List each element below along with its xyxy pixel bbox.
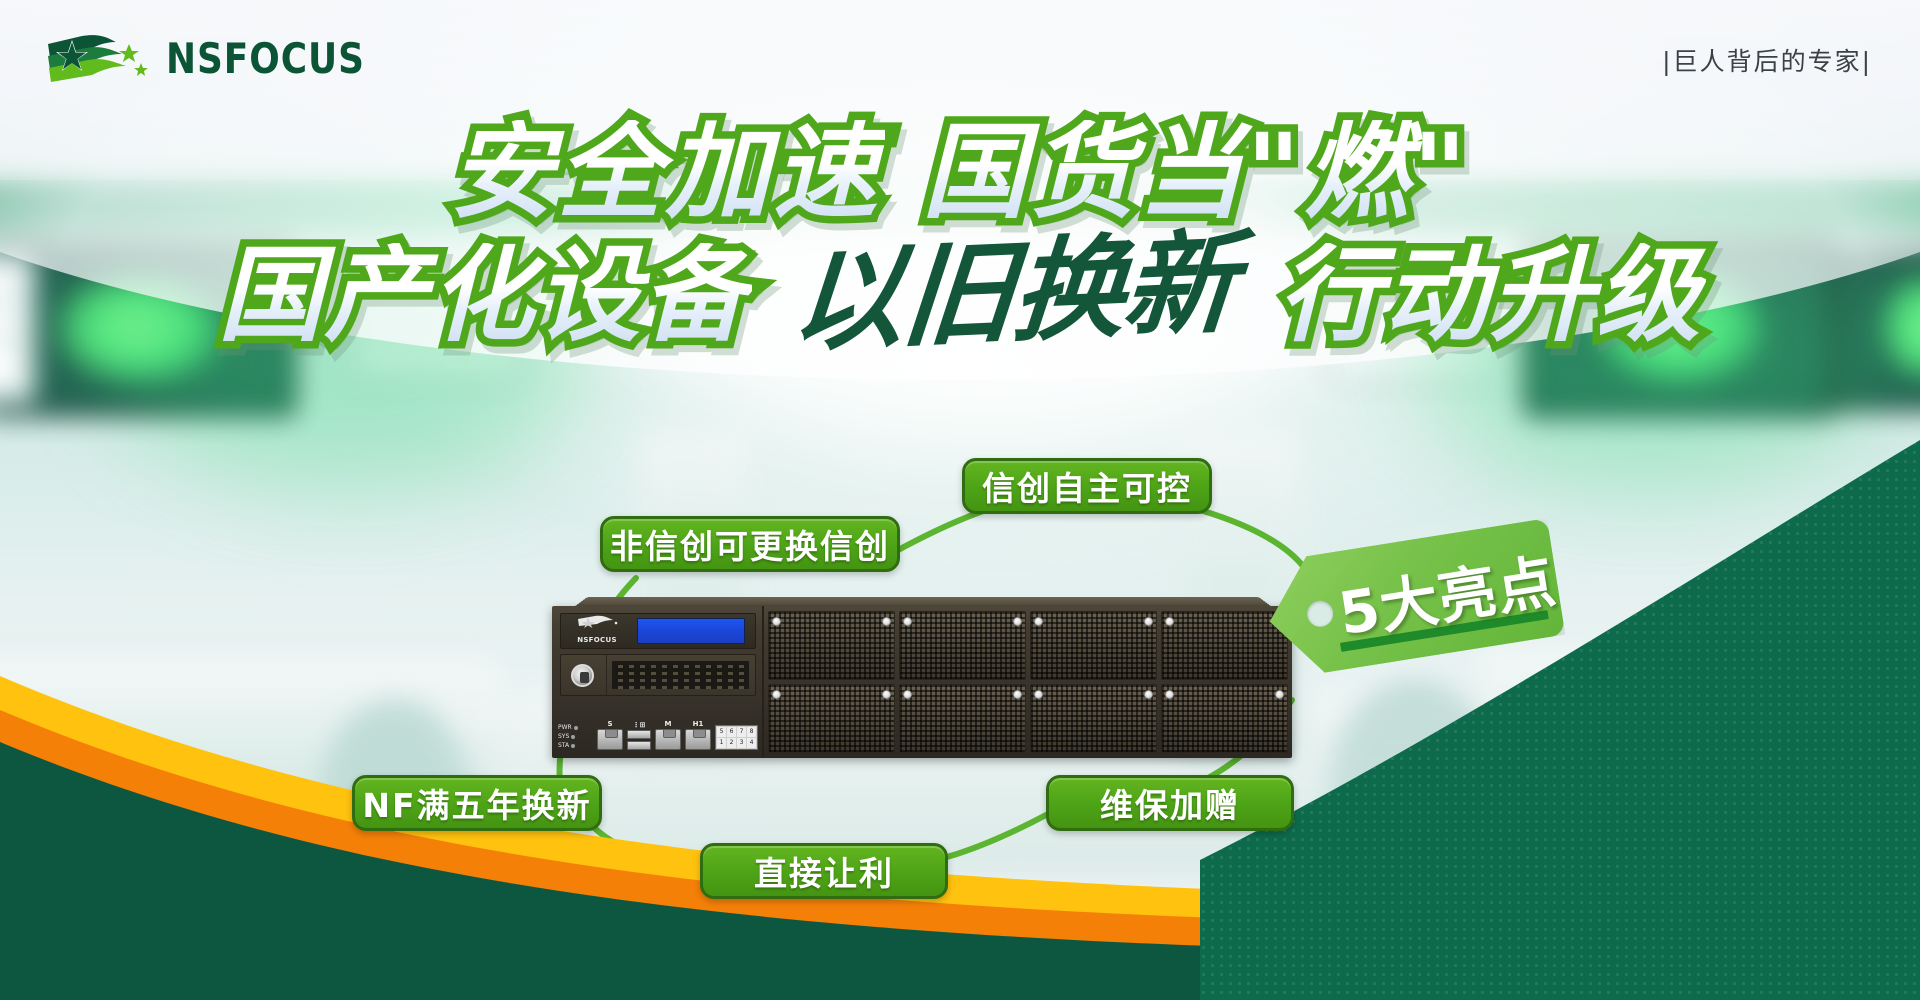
appliance-port-m[interactable]: M <box>655 720 681 750</box>
appliance-usb-ports[interactable]: ⋮⊞ <box>627 721 651 750</box>
led-label-sys: SYS <box>558 732 569 741</box>
rj45-icon <box>655 729 681 750</box>
appliance-port-row: PWR SYS STA S ⋮⊞ <box>558 701 758 753</box>
led-label-sta: STA <box>558 741 569 750</box>
rj45-icon <box>597 729 623 750</box>
banner-canvas: NSFOCUS |巨人背后的专家| 安全加速 国货当"燃" 国产化设备 以旧换新… <box>0 0 1920 1000</box>
numbered-port: 8 <box>747 727 756 737</box>
port-label-s: S <box>597 720 623 729</box>
nsfocus-appliance: NSFOCUS PWR SYS STA <box>552 588 1292 768</box>
feature-badge-direct-discount[interactable]: 直接让利 <box>700 843 948 899</box>
screw-icon <box>1013 617 1022 626</box>
led-label-pwr: PWR <box>558 723 572 732</box>
appliance-removable-bay <box>560 654 756 696</box>
feature-badge-nonxc-to-xc[interactable]: 非信创可更换信创 <box>600 516 900 572</box>
nsfocus-logo[interactable]: NSFOCUS <box>42 30 375 86</box>
screw-icon <box>1144 690 1153 699</box>
headline-line-1: 安全加速 国货当"燃" <box>0 120 1920 225</box>
drive-bay[interactable] <box>899 684 1026 753</box>
screw-icon <box>1034 690 1043 699</box>
banner-header: NSFOCUS |巨人背后的专家| <box>0 0 1920 110</box>
drive-bay[interactable] <box>1030 684 1157 753</box>
feature-badge-label: 非信创可更换信创 <box>610 520 890 568</box>
feature-badge-xinchuang-autonomous[interactable]: 信创自主可控 <box>962 458 1212 514</box>
headline-line-2: 国产化设备 以旧换新 行动升级 <box>0 237 1920 349</box>
rj45-icon <box>685 729 711 750</box>
nsfocus-logo-text: NSFOCUS <box>166 34 365 83</box>
screw-icon <box>903 617 912 626</box>
numbered-port: 6 <box>727 727 736 737</box>
screw-icon <box>882 617 891 626</box>
headline-segment: 国产化设备 <box>214 243 752 347</box>
usb-icon: ⋮⊞ <box>627 721 651 730</box>
feature-badge-maintenance-bonus[interactable]: 维保加赠 <box>1046 775 1294 831</box>
nsfocus-bird-icon <box>575 615 619 628</box>
headline-block: 安全加速 国货当"燃" 国产化设备 以旧换新 行动升级 <box>0 120 1920 349</box>
numbered-port: 3 <box>737 738 746 748</box>
feature-badge-nf-five-year-renew[interactable]: NF满五年换新 <box>352 775 602 831</box>
feature-badge-label: 直接让利 <box>754 847 894 895</box>
numbered-port: 2 <box>727 738 736 748</box>
drive-bay[interactable] <box>768 611 895 680</box>
screw-icon <box>772 617 781 626</box>
numbered-port: 7 <box>737 727 746 737</box>
usb-port <box>627 730 651 739</box>
led-indicator <box>571 744 575 748</box>
appliance-front-panel: NSFOCUS PWR SYS STA <box>552 606 1292 758</box>
right-wave-decoration <box>1200 440 1920 1000</box>
screw-icon <box>1034 617 1043 626</box>
port-label-h1: H1 <box>685 720 711 729</box>
appliance-lock[interactable] <box>561 655 607 695</box>
usb-port <box>627 741 651 750</box>
appliance-brand-lcd-row: NSFOCUS <box>560 613 756 649</box>
drive-bay[interactable] <box>899 611 1026 680</box>
led-indicator <box>571 735 575 739</box>
appliance-numbered-ports[interactable]: 5 6 7 8 1 2 3 4 <box>715 725 758 750</box>
screw-icon <box>1013 690 1022 699</box>
headline-segment: 国货当"燃" <box>918 120 1474 224</box>
headline-segment: 安全加速 <box>445 120 885 224</box>
headline-segment: 行动升级 <box>1274 243 1706 347</box>
appliance-status-leds: PWR SYS STA <box>558 723 593 750</box>
keyhole-lock-icon <box>571 664 594 687</box>
port-label-m: M <box>655 720 681 729</box>
feature-badge-label: NF满五年换新 <box>362 779 591 827</box>
right-wave-dot-texture <box>1200 440 1920 1000</box>
feature-badge-label: 信创自主可控 <box>982 462 1192 510</box>
appliance-brand-text: NSFOCUS <box>577 636 617 644</box>
drive-bay[interactable] <box>1030 611 1157 680</box>
appliance-port-h1[interactable]: H1 <box>685 720 711 750</box>
numbered-port: 5 <box>717 727 726 737</box>
screw-icon <box>772 690 781 699</box>
headline-brush-segment: 以旧换新 <box>778 227 1249 359</box>
brand-tagline: |巨人背后的专家| <box>1662 42 1872 78</box>
usb-stack <box>627 730 651 750</box>
screw-icon <box>903 690 912 699</box>
appliance-lcd-screen <box>637 618 745 644</box>
appliance-bay-vent <box>612 661 749 689</box>
numbered-port: 1 <box>717 738 726 748</box>
feature-badge-label: 维保加赠 <box>1100 779 1240 827</box>
appliance-port-s[interactable]: S <box>597 720 623 750</box>
numbered-port: 4 <box>747 738 756 748</box>
screw-icon <box>1165 617 1174 626</box>
screw-icon <box>882 690 891 699</box>
screw-icon <box>1165 690 1174 699</box>
led-indicator <box>574 726 578 730</box>
appliance-control-section: NSFOCUS PWR SYS STA <box>552 606 764 758</box>
nsfocus-flag-star-logo-icon <box>42 30 152 86</box>
appliance-brand: NSFOCUS <box>561 615 633 647</box>
drive-bay[interactable] <box>768 684 895 753</box>
screw-icon <box>1144 617 1153 626</box>
